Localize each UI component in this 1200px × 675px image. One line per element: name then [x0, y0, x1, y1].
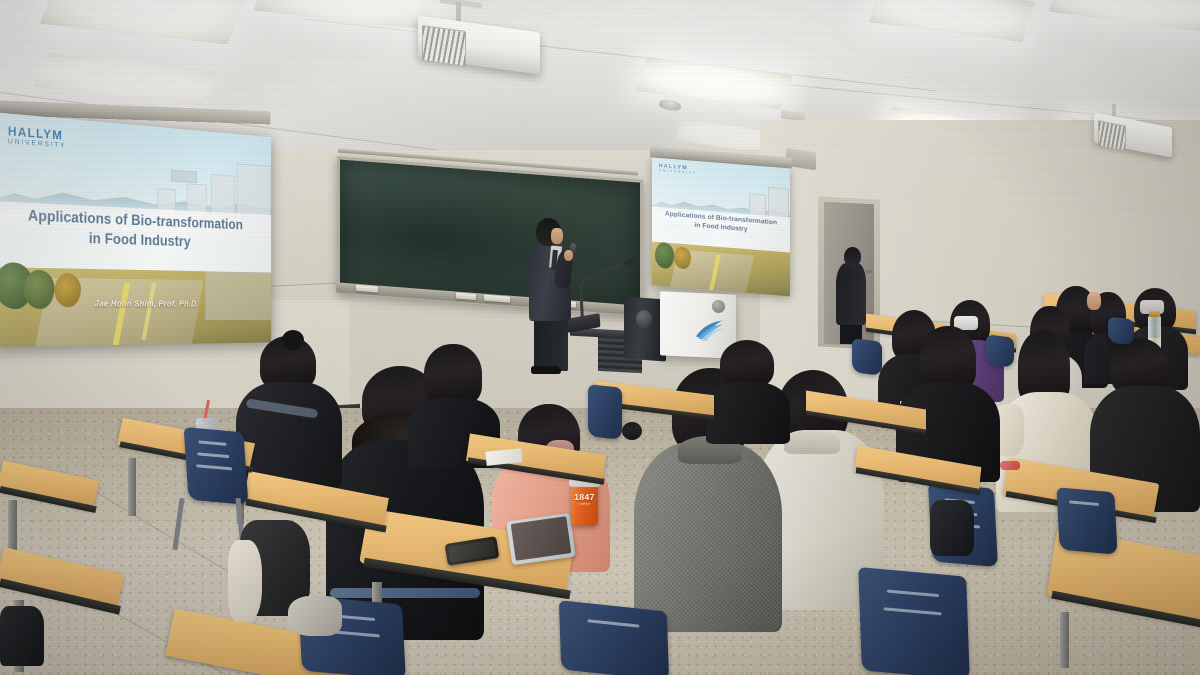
projector-vent-grille: [1098, 120, 1126, 151]
coffee-cup-sublabel: coffee: [572, 502, 597, 506]
chair-back-slot: [887, 590, 939, 598]
presenter-hand: [564, 250, 573, 261]
podium-control-knob[interactable]: [636, 310, 652, 328]
hallym-university-logo: HALLYM UNIVERSITY: [8, 124, 66, 149]
chair-back-slot: [884, 607, 942, 615]
chair-back-slot: [1069, 500, 1099, 506]
chair[interactable]: [858, 567, 970, 675]
coat-on-chair: [228, 540, 262, 622]
bag: [930, 500, 974, 556]
desk-leg: [128, 458, 136, 516]
student-hair: [622, 422, 642, 440]
bag: [0, 606, 44, 666]
chair[interactable]: [588, 384, 622, 440]
presenter-face: [551, 228, 563, 244]
slide-tree: [674, 246, 691, 269]
chair[interactable]: [1056, 487, 1117, 554]
standing-person-head: [844, 247, 861, 266]
tablet-screen[interactable]: [511, 516, 572, 560]
desk-leg: [1060, 612, 1069, 668]
chalkboard-eraser: [456, 293, 476, 301]
chair[interactable]: [1108, 316, 1134, 345]
student-coat: [706, 382, 790, 444]
hair-bun: [282, 330, 304, 350]
knit-texture: [636, 452, 780, 630]
door-handle[interactable]: [866, 270, 873, 273]
chair-backrest-behind: [330, 588, 480, 598]
bottle-cap: [1149, 311, 1160, 317]
standing-person-coat: [836, 263, 866, 325]
podium-wave-logo: [694, 317, 724, 342]
chair-back-slot: [198, 440, 226, 445]
slide-building: [171, 169, 197, 183]
presenter-shoe: [531, 366, 561, 374]
chalkboard-eraser: [484, 295, 510, 303]
chalkboard-eraser: [356, 285, 378, 293]
student-hand: [1087, 292, 1101, 310]
slide-author: Jae Hoon Shim, Prof. Ph.D.: [23, 298, 258, 308]
student-hair: [720, 340, 774, 388]
projector-vent-grille: [422, 25, 466, 67]
coffee-cup-brand-label: 1847: [572, 492, 597, 502]
podium-button[interactable]: [712, 300, 725, 313]
pencil-case: [1000, 461, 1020, 470]
chair-back-slot: [197, 452, 229, 458]
chair[interactable]: [559, 600, 669, 675]
projection-screen-secondary: HALLYM UNIVERSITY Applications of Bio-tr…: [652, 157, 790, 296]
shoe: [288, 596, 342, 636]
chair[interactable]: [986, 334, 1014, 367]
student-hair: [424, 344, 482, 406]
projection-screen-main: HALLYM UNIVERSITY Applications of Bio-tr…: [0, 112, 271, 347]
slide-building: [206, 271, 272, 319]
chair-back-slot: [587, 619, 639, 628]
classroom-photo: HALLYM UNIVERSITY Applications of Bio-tr…: [0, 0, 1200, 675]
chair[interactable]: [184, 427, 249, 505]
jacket-collar: [784, 430, 840, 454]
chair[interactable]: [852, 338, 882, 376]
chair-back-slot: [196, 464, 232, 470]
presenter-legs: [534, 316, 568, 371]
